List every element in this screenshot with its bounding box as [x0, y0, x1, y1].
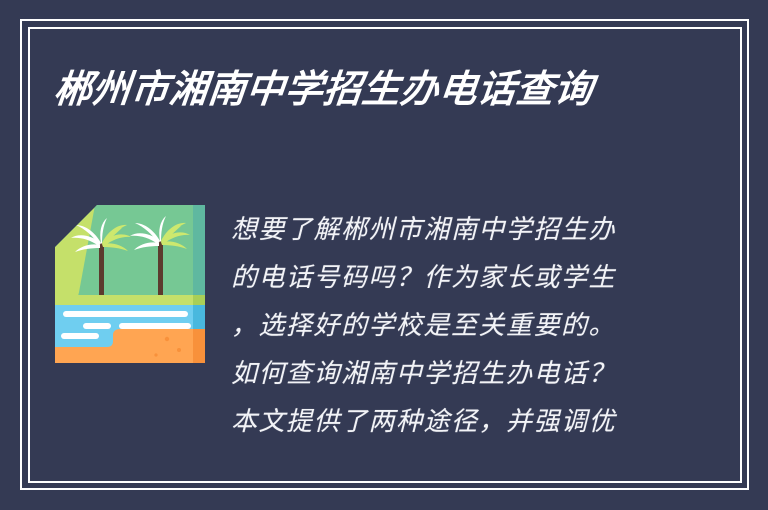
article-line: 的电话号码吗？作为家长或学生	[231, 254, 661, 302]
article-line: 如何查询湘南中学招生办电话？	[231, 350, 661, 398]
article-body: 想要了解郴州市湘南中学招生办 的电话号码吗？作为家长或学生 ，选择好的学校是至关…	[231, 206, 661, 446]
article-line: 本文提供了两种途径，并强调优	[231, 398, 661, 446]
page-title: 郴州市湘南中学招生办电话查询	[51, 64, 696, 114]
article-line: 想要了解郴州市湘南中学招生办	[231, 206, 661, 254]
article-line: ，选择好的学校是至关重要的。	[231, 302, 661, 350]
article-card: 郴州市湘南中学招生办电话查询	[0, 0, 768, 510]
beach-island-illustration	[55, 205, 205, 363]
